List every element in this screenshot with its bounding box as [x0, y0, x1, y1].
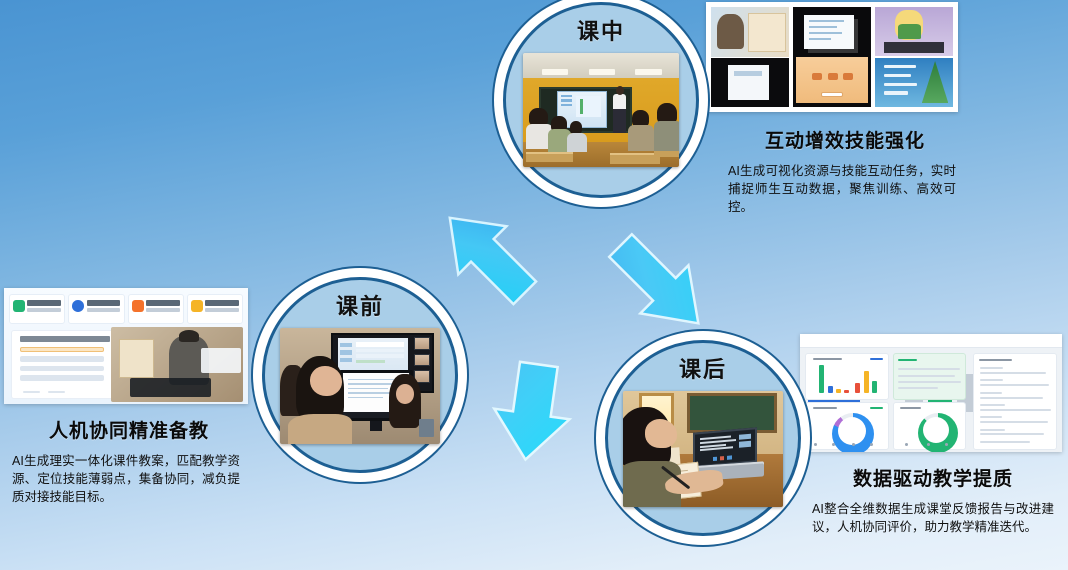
node-after-class-label: 课后	[679, 359, 727, 381]
node-during-class-label: 课中	[577, 21, 625, 43]
node-before-class-label: 课前	[336, 296, 384, 318]
panel-data-title: 数据驱动教学提质	[800, 464, 1066, 491]
prep-card-courseware[interactable]	[9, 294, 65, 324]
panel-prep-title: 人机协同精准备教	[4, 416, 254, 443]
diagram-canvas: 课中	[0, 0, 1068, 570]
prep-feature-cards	[9, 294, 243, 324]
panel-interaction: 互动增效技能强化 AI生成可视化资源与技能互动任务，实时捕捉师生互动数据，聚焦训…	[706, 2, 962, 216]
node-during-class[interactable]: 课中	[503, 2, 699, 198]
node-after-class[interactable]: 课后	[605, 340, 801, 536]
panel-data: 数据驱动教学提质 AI整合全维数据生成课堂反馈报告与改进建议，人机协同评价，助力…	[800, 334, 1066, 536]
arrow-after-to-before	[452, 358, 612, 468]
prep-card-exercise[interactable]	[187, 294, 243, 324]
arrow-before-to-during	[418, 186, 558, 326]
prep-quiz-panel	[11, 330, 118, 400]
panel-data-body: AI整合全维数据生成课堂反馈报告与改进建议，人机协同评价，助力教学精准迭代。	[812, 500, 1054, 536]
panel-prep-thumbnail	[4, 288, 248, 404]
prep-ai-scene	[111, 327, 243, 401]
panel-prep-body: AI生成理实一体化课件教案，匹配教学资源、定位技能薄弱点，集备协同，减负提质对接…	[12, 452, 240, 506]
node-after-class-photo	[623, 391, 783, 507]
collage-column-3	[875, 7, 953, 107]
node-before-class[interactable]: 课前	[262, 277, 458, 473]
node-before-class-photo	[280, 328, 440, 444]
panel-interaction-body: AI生成可视化资源与技能互动任务，实时捕捉师生互动数据，聚焦训练、高效可控。	[728, 162, 956, 216]
panel-interaction-title: 互动增效技能强化	[728, 126, 962, 153]
panel-interaction-thumbnail	[706, 2, 958, 112]
collage-column-1	[711, 7, 789, 107]
prep-card-classroom-activity[interactable]	[128, 294, 184, 324]
collage-column-2	[793, 7, 871, 107]
panel-prep: 人机协同精准备教 AI生成理实一体化课件教案，匹配教学资源、定位技能薄弱点，集备…	[4, 288, 254, 506]
panel-data-thumbnail	[800, 334, 1062, 452]
arrow-during-to-after	[588, 208, 728, 358]
node-during-class-photo	[523, 53, 679, 167]
prep-card-dialog-agent[interactable]	[68, 294, 124, 324]
